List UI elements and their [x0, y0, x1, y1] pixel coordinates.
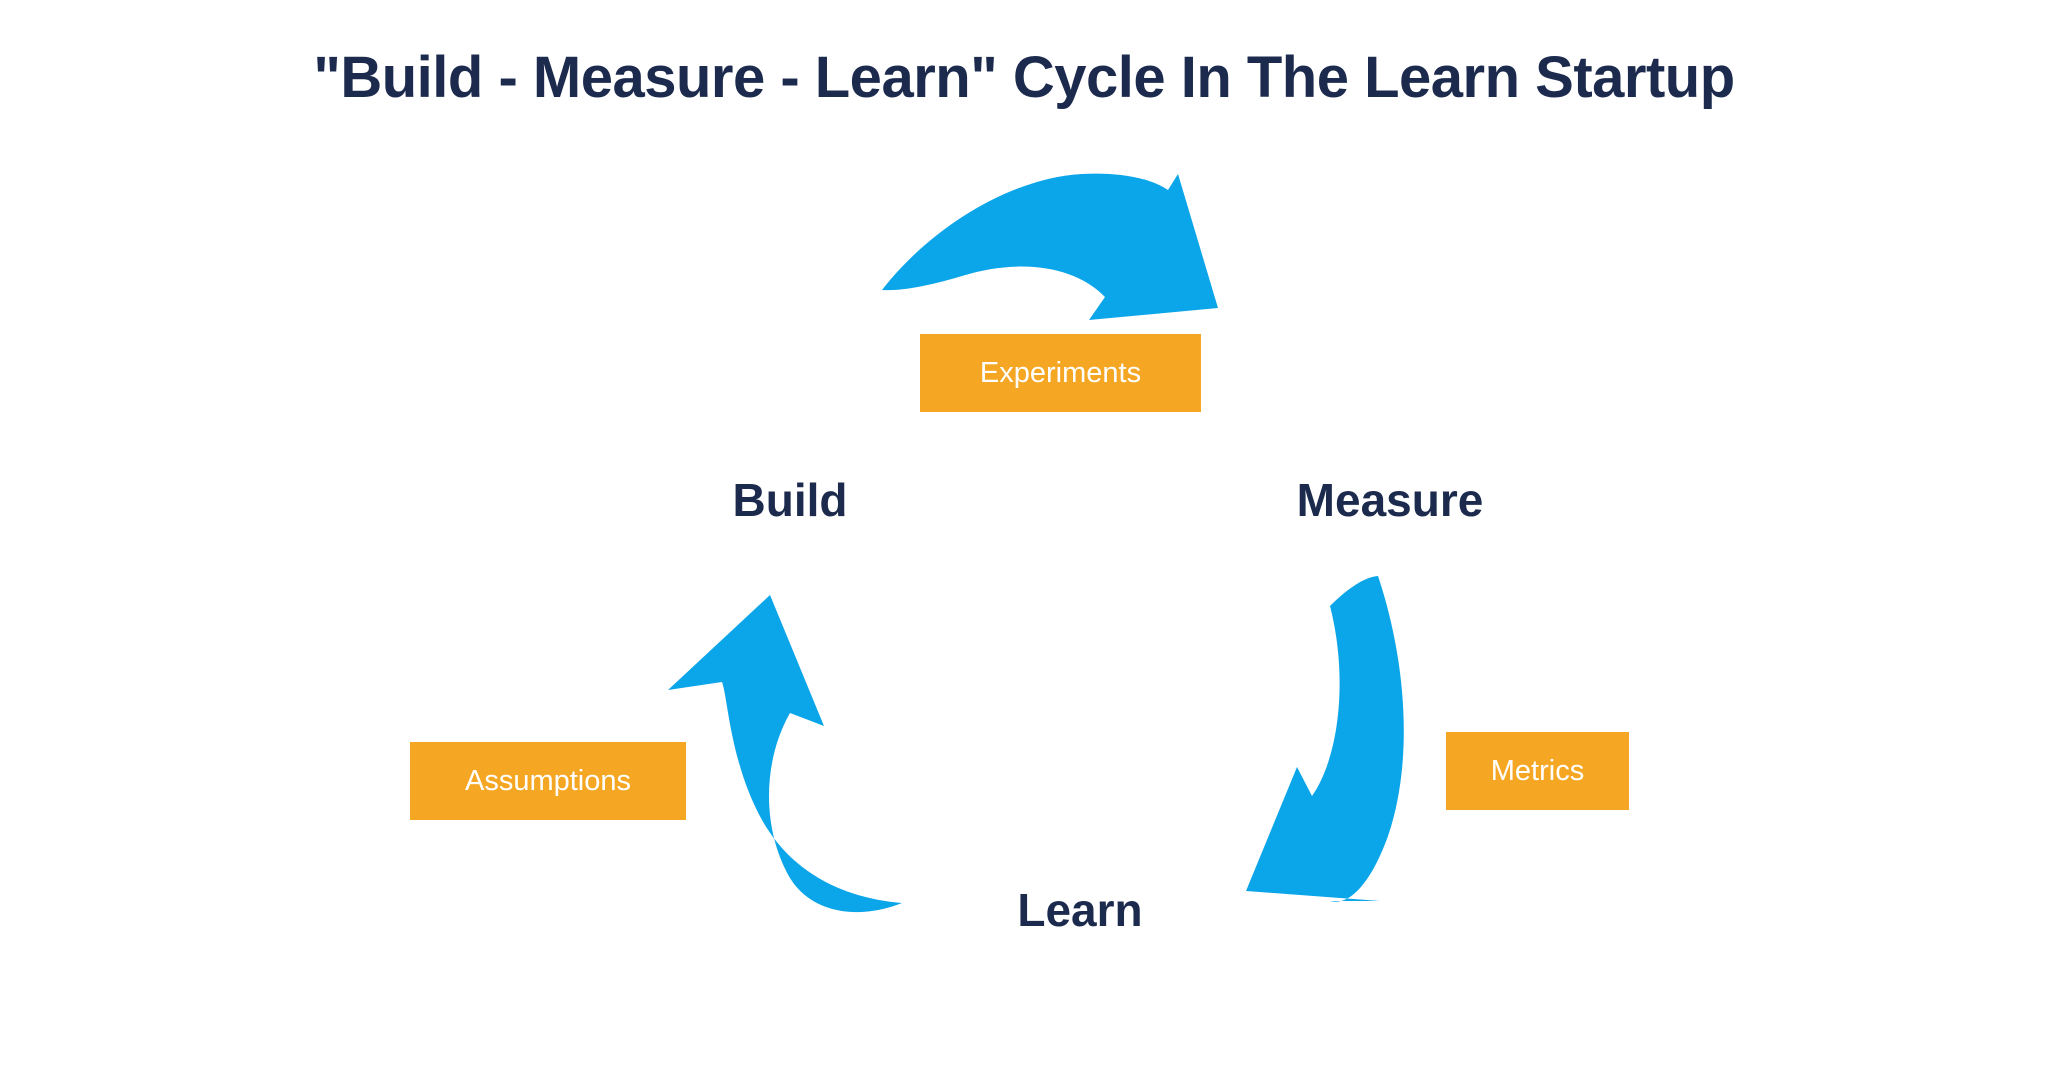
- stage-label-build: Build: [733, 473, 848, 527]
- arrow-measure-to-learn-icon: [1246, 576, 1404, 902]
- diagram-canvas: "Build - Measure - Learn" Cycle In The L…: [0, 0, 2048, 1067]
- arrow-learn-to-build-icon: [668, 595, 902, 912]
- tag-experiments: Experiments: [920, 334, 1201, 412]
- tag-assumptions: Assumptions: [410, 742, 686, 820]
- stage-label-measure: Measure: [1297, 473, 1484, 527]
- arrow-build-to-measure-icon: [882, 174, 1218, 320]
- tag-metrics: Metrics: [1446, 732, 1629, 810]
- stage-label-learn: Learn: [1017, 883, 1142, 937]
